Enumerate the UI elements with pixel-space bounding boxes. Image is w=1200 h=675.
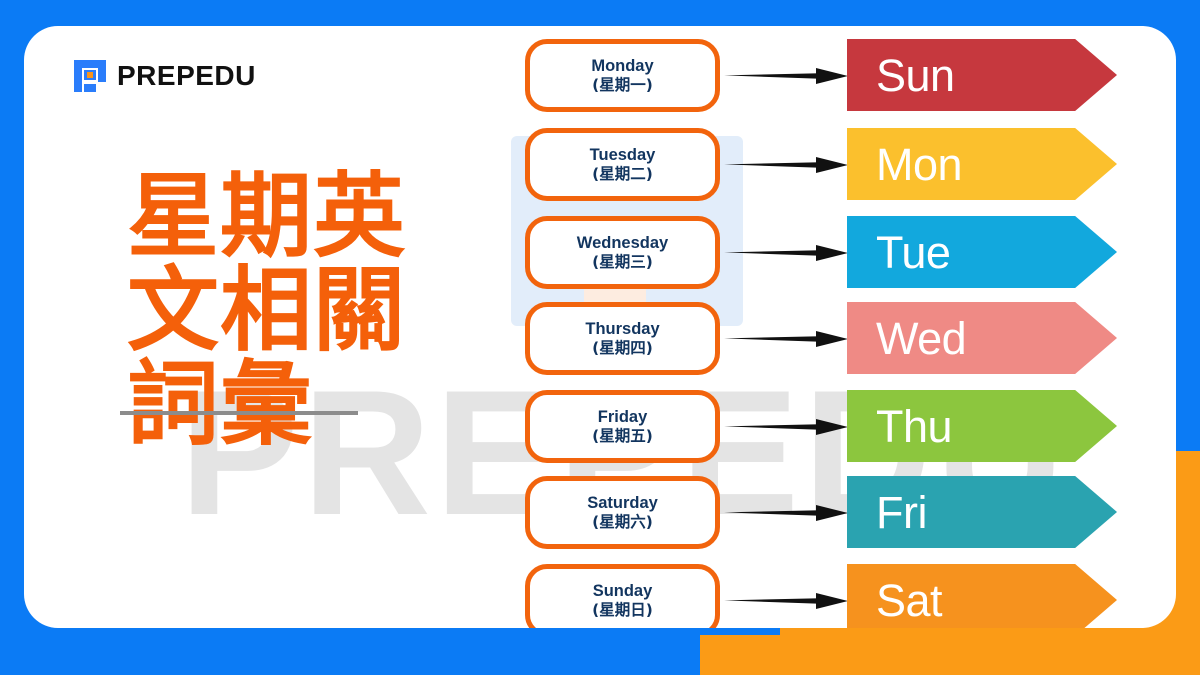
- day-pill-chinese: (星期五): [592, 428, 653, 446]
- day-pill-chinese: (星期六): [592, 514, 653, 532]
- background-orange-bottom-bar: [700, 635, 1200, 675]
- day-abbreviation-label: Tue: [847, 230, 950, 275]
- day-pill-english: Friday: [598, 408, 648, 427]
- page-title-line-2: 文相關: [127, 264, 437, 358]
- right-arrow-icon: [724, 502, 850, 524]
- day-pill[interactable]: Monday(星期一): [525, 39, 720, 112]
- day-abbreviation-label: Fri: [847, 490, 927, 535]
- day-pill-chinese: (星期一): [592, 77, 653, 95]
- day-pill[interactable]: Tuesday(星期二): [525, 128, 720, 201]
- content-card: PREPEDU PREPEDU 星期英 文相關 詞彙 Monday(星期一)Su…: [24, 26, 1176, 628]
- day-pill[interactable]: Sunday(星期日): [525, 564, 720, 628]
- day-pill[interactable]: Saturday(星期六): [525, 476, 720, 549]
- day-abbreviation-label: Sat: [847, 578, 942, 623]
- day-pill[interactable]: Wednesday(星期三): [525, 216, 720, 289]
- day-pill-english: Thursday: [585, 320, 659, 339]
- infographic-canvas: PREPEDU PREPEDU 星期英 文相關 詞彙 Monday(星期一)Su…: [0, 0, 1200, 675]
- day-pill[interactable]: Thursday(星期四): [525, 302, 720, 375]
- day-abbreviation-banner[interactable]: Sat: [847, 564, 1117, 628]
- day-abbreviation-label: Thu: [847, 404, 952, 449]
- day-pill-english: Saturday: [587, 494, 658, 513]
- day-abbreviation-banner[interactable]: Mon: [847, 128, 1117, 200]
- day-pill-chinese: (星期二): [592, 166, 653, 184]
- day-pill-english: Sunday: [593, 582, 653, 601]
- page-title-line-1: 星期英: [127, 170, 437, 264]
- page-title: 星期英 文相關 詞彙: [127, 170, 437, 451]
- day-abbreviation-banner[interactable]: Tue: [847, 216, 1117, 288]
- page-title-underline: [120, 411, 358, 415]
- right-arrow-icon: [724, 154, 850, 176]
- right-arrow-icon: [724, 416, 850, 438]
- day-abbreviation-label: Sun: [847, 53, 955, 98]
- brand-name: PREPEDU: [117, 62, 256, 90]
- day-pill-chinese: (星期四): [592, 340, 653, 358]
- right-arrow-icon: [724, 65, 850, 87]
- day-pill-english: Monday: [591, 57, 653, 76]
- right-arrow-icon: [724, 590, 850, 612]
- day-abbreviation-banner[interactable]: Wed: [847, 302, 1117, 374]
- prepedu-square-logo-icon: [72, 58, 108, 94]
- brand-logo: PREPEDU: [72, 58, 256, 94]
- day-pill-chinese: (星期三): [592, 254, 653, 272]
- page-title-line-3: 詞彙: [127, 358, 437, 452]
- day-abbreviation-banner[interactable]: Fri: [847, 476, 1117, 548]
- day-abbreviation-label: Wed: [847, 316, 966, 361]
- day-pill[interactable]: Friday(星期五): [525, 390, 720, 463]
- right-arrow-icon: [724, 328, 850, 350]
- day-abbreviation-label: Mon: [847, 142, 962, 187]
- right-arrow-icon: [724, 242, 850, 264]
- day-abbreviation-banner[interactable]: Sun: [847, 39, 1117, 111]
- day-pill-chinese: (星期日): [592, 602, 653, 620]
- day-abbreviation-banner[interactable]: Thu: [847, 390, 1117, 462]
- day-pill-english: Wednesday: [577, 234, 668, 253]
- day-pill-english: Tuesday: [590, 146, 656, 165]
